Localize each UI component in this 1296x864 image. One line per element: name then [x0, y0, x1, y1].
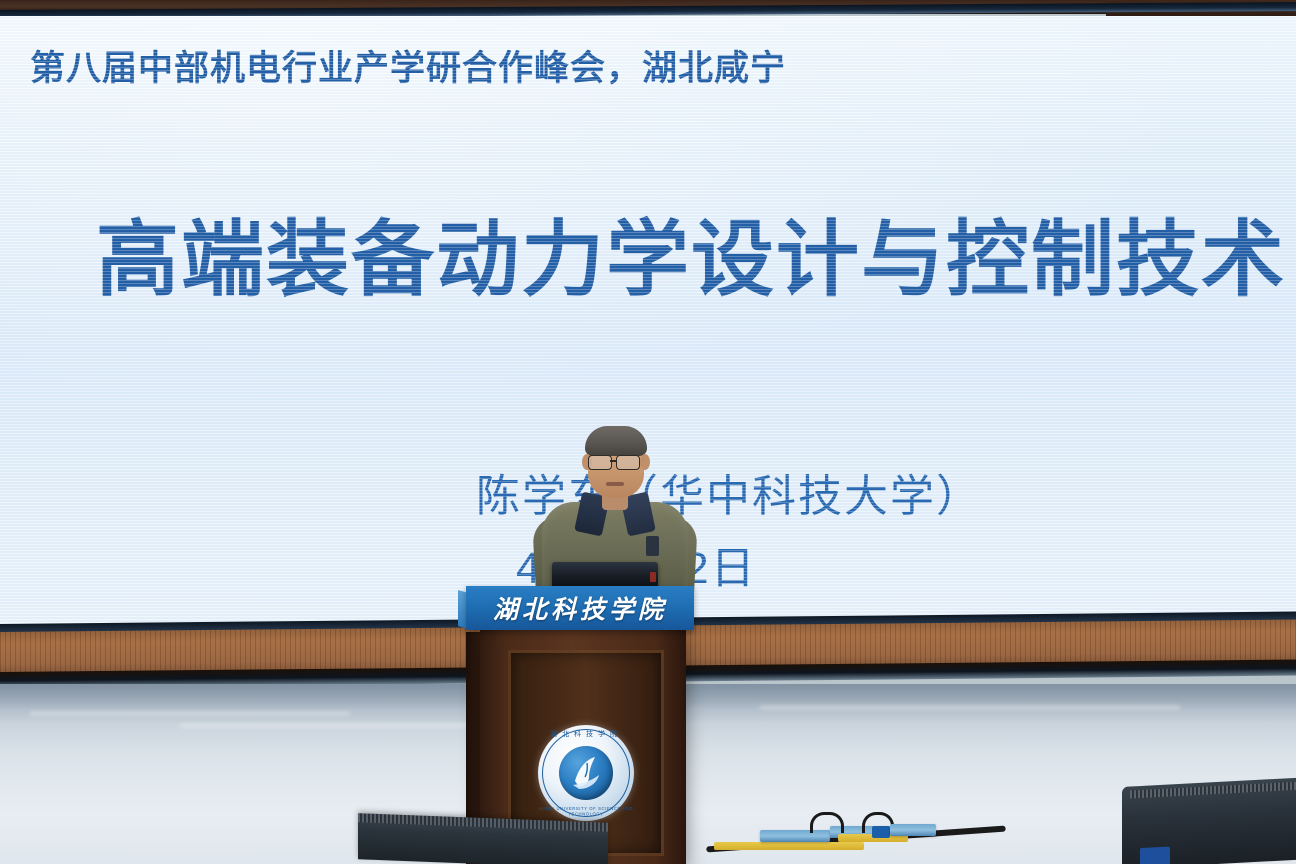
eyeglasses-left-lens	[588, 455, 612, 470]
university-emblem: 湖北科技学院 HUBEI UNIVERSITY OF SCIENCE AND T…	[538, 725, 634, 821]
stage-monitor-right-connector	[1140, 846, 1170, 864]
laptop-indicator	[650, 572, 656, 582]
slide-header-text: 第八届中部机电行业产学研合作峰会，湖北咸宁	[30, 40, 786, 91]
speaker-mouth	[606, 482, 624, 486]
emblem-name-en: HUBEI UNIVERSITY OF SCIENCE AND TECHNOLO…	[538, 806, 634, 817]
stage-monitor-right	[1122, 777, 1296, 864]
cable-protector-yellow	[714, 842, 864, 850]
stage-monitor-left	[358, 813, 608, 864]
emblem-name-cn: 湖北科技学院	[538, 729, 634, 739]
cable-connector	[872, 826, 890, 838]
cable-protector-blue	[890, 824, 936, 836]
podium-banner: 湖北科技学院	[466, 586, 694, 630]
speaker-hair	[585, 426, 647, 456]
slide-title-text: 高端装备动力学设计与控制技术	[96, 218, 1286, 301]
eyeglasses-bridge	[610, 460, 616, 462]
cable-loop	[810, 812, 844, 833]
emblem-core	[559, 746, 613, 800]
speaker-ear-right	[640, 454, 650, 470]
eyeglasses-right-lens	[616, 455, 640, 470]
podium-banner-text: 湖北科技学院	[466, 586, 694, 630]
conference-stage-photo: 第八届中部机电行业产学研合作峰会，湖北咸宁 高端装备动力学设计与控制技术 陈学东…	[0, 0, 1296, 864]
emblem-bird-icon	[569, 755, 603, 791]
speaker-badge	[646, 536, 659, 556]
